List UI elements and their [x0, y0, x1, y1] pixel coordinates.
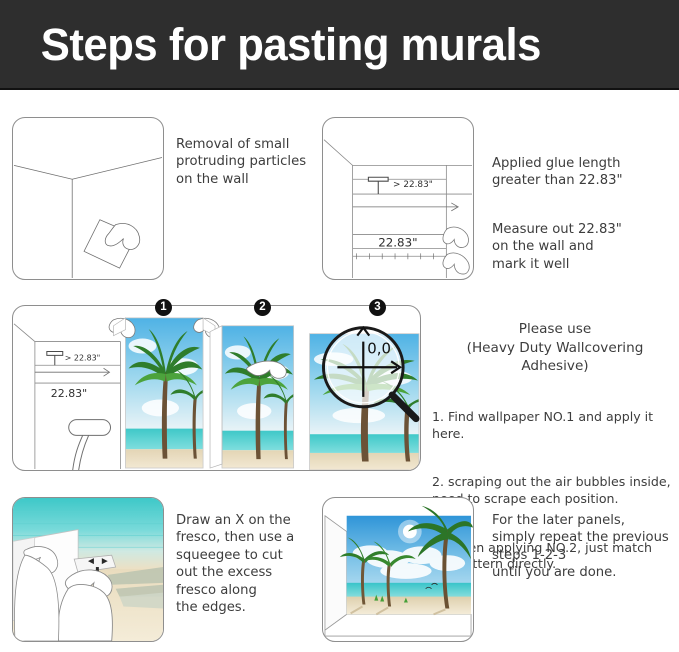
- step-badge-2: 2: [254, 299, 271, 316]
- svg-text:> 22.83": > 22.83": [393, 180, 433, 190]
- wall-measure-drawing: > 22.83" 22.83": [323, 118, 473, 279]
- svg-text:> 22.83": > 22.83": [65, 353, 101, 362]
- svg-text:22.83": 22.83": [378, 235, 417, 249]
- page-title: Steps for pasting murals: [0, 22, 541, 67]
- step-badge-3: 3: [369, 299, 386, 316]
- caption-measure-mark: Measure out 22.83" on the wall and mark …: [492, 221, 672, 273]
- adhesive-step-1: 1. Find wallpaper NO.1 and apply it here…: [432, 409, 678, 442]
- illustration-finished-mural: [322, 497, 474, 642]
- illustration-application-sequence: > 22.83" 22.83": [12, 305, 421, 471]
- illustration-cut-excess: [12, 497, 164, 642]
- page-header: Steps for pasting murals: [0, 0, 679, 90]
- finished-mural-drawing: [323, 498, 473, 641]
- wall-corner-drawing: [13, 118, 163, 279]
- svg-text:22.83": 22.83": [51, 387, 87, 400]
- svg-text:0,0: 0,0: [367, 339, 391, 357]
- caption-repeat-steps: For the later panels, simply repeat the …: [492, 512, 677, 582]
- illustration-wall-preparation: [12, 117, 164, 280]
- step-badge-1: 1: [155, 299, 172, 316]
- adhesive-heading: Please use (Heavy Duty Wallcovering Adhe…: [432, 320, 678, 375]
- caption-glue-length: Applied glue length greater than 22.83": [492, 155, 670, 190]
- illustration-measure-wall: > 22.83" 22.83": [322, 117, 474, 280]
- application-sequence-drawing: > 22.83" 22.83": [13, 306, 420, 470]
- cut-excess-drawing: [13, 498, 163, 641]
- caption-wall-preparation: Removal of small protruding particles on…: [176, 136, 326, 188]
- caption-cut-excess: Draw an X on the fresco, then use a sque…: [176, 512, 326, 617]
